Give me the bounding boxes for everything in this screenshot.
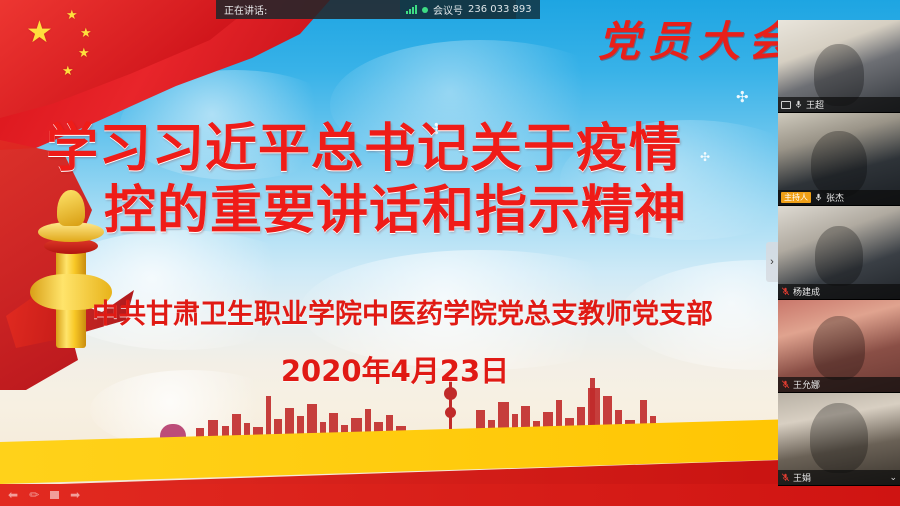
participant-tile[interactable]: 王超 (778, 20, 900, 113)
participant-tile[interactable]: 王娟 ⌄ (778, 393, 900, 486)
flag-star-icon: ★ (80, 26, 92, 39)
green-status-dot-icon (422, 7, 428, 13)
speaking-label: 正在讲话: (224, 2, 267, 17)
participant-namebar: 主持人 张杰 (778, 190, 900, 205)
square-icon[interactable] (50, 491, 59, 499)
slide-subtitle: 中共甘肃卫生职业学院中医药学院党总支教师党支部 (92, 292, 713, 331)
participant-namebar: 王超 (778, 97, 900, 112)
meeting-id-label: 会议号 (433, 2, 463, 17)
flag-star-icon: ★ (78, 46, 90, 59)
dove-icon: ✣ (736, 88, 749, 106)
mic-on-icon (794, 100, 803, 109)
participant-namebar: 王允娜 (778, 377, 900, 392)
mic-on-icon (814, 193, 823, 202)
signal-bars-icon (406, 5, 417, 14)
bottom-red-bar (0, 484, 900, 506)
arrow-left-icon[interactable]: ⬅ (8, 489, 18, 501)
participant-name: 王超 (806, 98, 824, 111)
participant-name: 张杰 (826, 191, 844, 204)
participant-namebar: 杨建成 (778, 284, 900, 299)
slide-title-line-2: 控的重要讲话和指示精神 (46, 180, 846, 242)
slide-banner-title: 党员大会 (598, 8, 798, 69)
flag-star-icon: ★ (66, 8, 78, 21)
flag-star-icon: ★ (62, 64, 74, 77)
sidebar-collapse-handle[interactable]: › (766, 242, 778, 282)
participant-name: 王娟 (793, 471, 811, 484)
participant-tile[interactable]: 王允娜 (778, 300, 900, 393)
mic-muted-icon (781, 473, 790, 482)
slide-title: 学习习近平总书记关于疫情 控的重要讲话和指示精神 (46, 118, 846, 242)
participant-name: 王允娜 (793, 378, 820, 391)
participant-namebar: 王娟 ⌄ (778, 470, 900, 485)
meeting-id-badge[interactable]: 会议号 236 033 893 (400, 0, 540, 19)
participant-tile[interactable]: 主持人 张杰 (778, 113, 900, 206)
arrow-right-icon[interactable]: ➡ (70, 489, 80, 501)
annotation-toolbar: ⬅ ✏ ➡ (4, 486, 84, 503)
video-on-icon (781, 101, 791, 109)
participant-tile[interactable]: 杨建成 (778, 206, 900, 299)
shared-slide: ★ ★ ★ ★ ★ ✣ ✣ ✣ (0, 0, 900, 506)
mic-muted-icon (781, 380, 790, 389)
host-badge: 主持人 (781, 192, 811, 203)
slide-title-line-1: 学习习近平总书记关于疫情 (46, 118, 846, 180)
mic-muted-icon (781, 287, 790, 296)
meeting-id-value: 236 033 893 (468, 4, 532, 15)
meeting-screen-share-view: ★ ★ ★ ★ ★ ✣ ✣ ✣ (0, 0, 900, 506)
chevron-down-icon[interactable]: ⌄ (889, 472, 897, 483)
pen-icon[interactable]: ✏ (29, 489, 39, 501)
flag-star-icon: ★ (26, 18, 53, 48)
slide-date: 2020年4月23日 (0, 348, 790, 390)
participant-name: 杨建成 (793, 285, 820, 298)
participant-sidebar: › 王超 主持人 张杰 (778, 20, 900, 486)
